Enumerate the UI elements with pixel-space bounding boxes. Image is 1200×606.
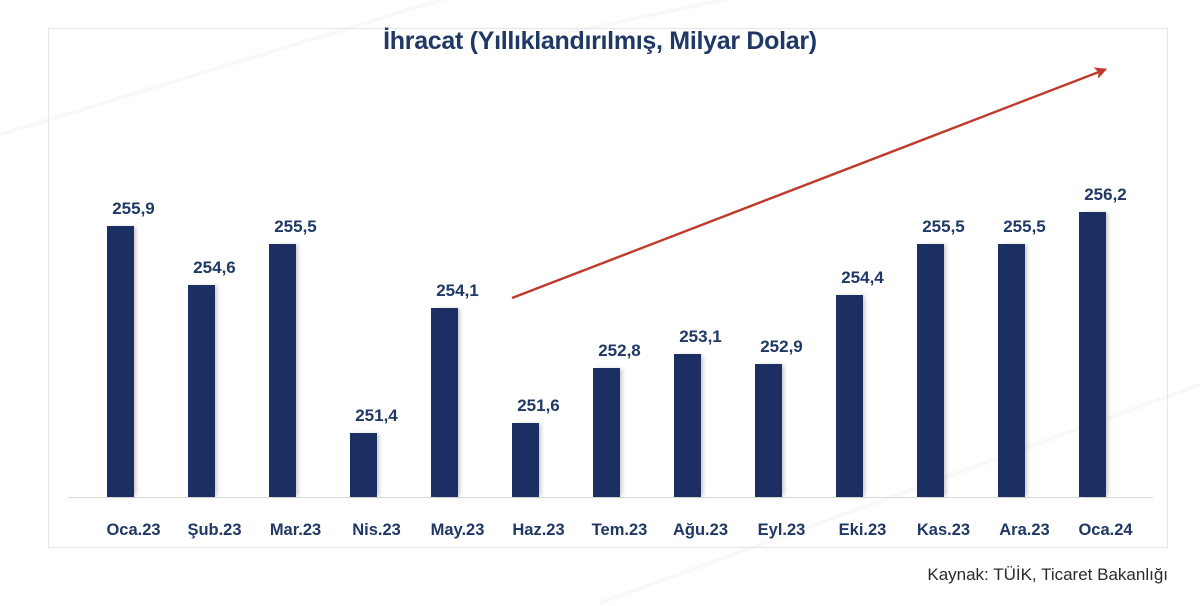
bar-series: 255,9Oca.23254,6Şub.23255,5Mar.23251,4Ni… bbox=[48, 28, 1168, 548]
bar-value-label: 256,2 bbox=[1061, 185, 1151, 205]
bar[interactable] bbox=[593, 368, 620, 497]
bar[interactable] bbox=[674, 354, 701, 497]
bar-value-label: 252,9 bbox=[737, 337, 827, 357]
bar[interactable] bbox=[836, 295, 863, 497]
bar[interactable] bbox=[998, 244, 1025, 497]
bar[interactable] bbox=[755, 364, 782, 497]
bar-value-label: 254,4 bbox=[818, 268, 908, 288]
bar-value-label: 255,5 bbox=[980, 217, 1070, 237]
bar-value-label: 255,5 bbox=[899, 217, 989, 237]
source-note: Kaynak: TÜİK, Ticaret Bakanlığı bbox=[927, 565, 1168, 585]
x-axis-tick-label: Oca.24 bbox=[1051, 521, 1161, 540]
bar[interactable] bbox=[107, 226, 134, 497]
chart-page: İhracat (Yıllıklandırılmış, Milyar Dolar… bbox=[0, 0, 1200, 600]
bar-value-label: 255,9 bbox=[89, 199, 179, 219]
bar[interactable] bbox=[917, 244, 944, 497]
bar-value-label: 253,1 bbox=[656, 327, 746, 347]
bar-value-label: 255,5 bbox=[251, 217, 341, 237]
bar-value-label: 254,6 bbox=[170, 258, 260, 278]
bar-value-label: 251,6 bbox=[494, 396, 584, 416]
bar[interactable] bbox=[269, 244, 296, 497]
bar[interactable] bbox=[431, 308, 458, 497]
plot-area: 255,9Oca.23254,6Şub.23255,5Mar.23251,4Ni… bbox=[48, 28, 1168, 548]
bar[interactable] bbox=[1079, 212, 1106, 497]
bar[interactable] bbox=[350, 433, 377, 497]
bar-value-label: 254,1 bbox=[413, 281, 503, 301]
bar-value-label: 251,4 bbox=[332, 406, 422, 426]
bar[interactable] bbox=[188, 285, 215, 497]
bar-value-label: 252,8 bbox=[575, 341, 665, 361]
bar[interactable] bbox=[512, 423, 539, 497]
